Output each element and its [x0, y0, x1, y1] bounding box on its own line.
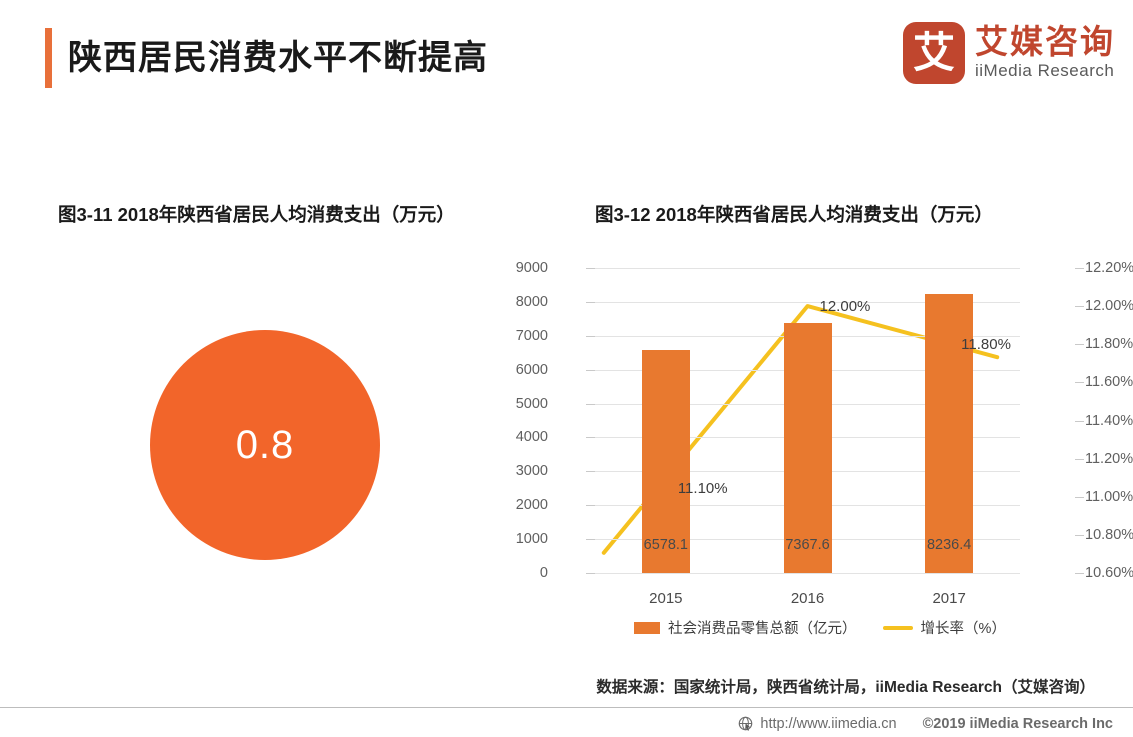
- plot-area: 900080007000600050004000300020001000012.…: [595, 268, 1020, 573]
- y-axis-right-tick: 12.20%: [1085, 260, 1133, 276]
- legend-line-label: 增长率（%）: [921, 617, 1006, 638]
- pie-chart: 0.8: [150, 330, 380, 560]
- y-axis-left-tick: 7000: [516, 328, 548, 344]
- y-axis-left-tick-mark: [586, 505, 595, 506]
- logo-mark-icon: 艾: [903, 22, 965, 84]
- globe-icon: [738, 716, 754, 732]
- y-axis-right-tick-mark: [1075, 306, 1084, 307]
- y-axis-left-tick: 6000: [516, 362, 548, 378]
- logo-name-en: iiMedia Research: [975, 60, 1115, 82]
- logo-name-cn: 艾媒咨询: [975, 24, 1115, 60]
- footer-url-text: http://www.iimedia.cn: [760, 716, 896, 732]
- y-axis-left-tick-mark: [586, 370, 595, 371]
- y-axis-right-tick: 10.60%: [1085, 565, 1133, 581]
- gridline: [595, 268, 1020, 269]
- legend-bar-label: 社会消费品零售总额（亿元）: [668, 617, 857, 638]
- legend-line-swatch-icon: [883, 626, 913, 630]
- title-accent-bar: [45, 28, 52, 88]
- page-footer: http://www.iimedia.cn ©2019 iiMedia Rese…: [0, 710, 1113, 737]
- y-axis-right-tick: 11.40%: [1085, 413, 1133, 429]
- line-data-label: 11.80%: [961, 336, 1011, 353]
- x-axis-tick: 2016: [763, 590, 853, 607]
- y-axis-left-tick-mark: [586, 404, 595, 405]
- y-axis-left-tick: 2000: [516, 497, 548, 513]
- bar: [784, 323, 832, 573]
- y-axis-left-tick: 9000: [516, 260, 548, 276]
- y-axis-right-tick: 11.60%: [1085, 374, 1133, 390]
- y-axis-left-tick: 0: [540, 565, 548, 581]
- y-axis-right-tick: 11.00%: [1085, 489, 1133, 505]
- y-axis-left-tick: 8000: [516, 294, 548, 310]
- legend-bar-swatch-icon: [634, 622, 660, 634]
- data-source-note: 数据来源：国家统计局，陕西省统计局，iiMedia Research（艾媒咨询）: [0, 675, 1095, 697]
- y-axis-right-tick: 11.20%: [1085, 451, 1133, 467]
- y-axis-left-tick-mark: [586, 539, 595, 540]
- y-axis-left-tick-mark: [586, 268, 595, 269]
- y-axis-right-tick-mark: [1075, 421, 1084, 422]
- y-axis-right-tick-mark: [1075, 497, 1084, 498]
- chart-legend: 社会消费品零售总额（亿元） 增长率（%）: [540, 617, 1100, 638]
- line-data-label: 12.00%: [820, 298, 871, 315]
- y-axis-left-tick: 5000: [516, 396, 548, 412]
- footer-divider: [0, 707, 1133, 708]
- y-axis-right-tick-mark: [1075, 535, 1084, 536]
- bar-data-label: 8236.4: [904, 537, 994, 553]
- logo-text: 艾媒咨询 iiMedia Research: [975, 24, 1115, 83]
- y-axis-left-tick: 3000: [516, 463, 548, 479]
- y-axis-left-tick-mark: [586, 471, 595, 472]
- footer-copyright: ©2019 iiMedia Research Inc: [923, 716, 1113, 732]
- y-axis-right-tick-mark: [1075, 459, 1084, 460]
- y-axis-right-tick-mark: [1075, 573, 1084, 574]
- y-axis-right-tick-mark: [1075, 268, 1084, 269]
- footer-url[interactable]: http://www.iimedia.cn: [738, 716, 896, 732]
- left-chart-title: 图3-11 2018年陕西省居民人均消费支出（万元）: [58, 201, 455, 227]
- page-header: 陕西居民消费水平不断提高 艾 艾媒咨询 iiMedia Research: [0, 0, 1133, 120]
- gridline: [595, 573, 1020, 574]
- legend-item-bar[interactable]: 社会消费品零售总额（亿元）: [634, 617, 857, 638]
- y-axis-left-tick-mark: [586, 573, 595, 574]
- bar-data-label: 7367.6: [763, 537, 853, 553]
- y-axis-right-tick-mark: [1075, 382, 1084, 383]
- x-axis-tick: 2015: [621, 590, 711, 607]
- y-axis-left-tick: 4000: [516, 429, 548, 445]
- y-axis-left-tick-mark: [586, 336, 595, 337]
- pie-data-label: 0.8: [150, 330, 380, 560]
- x-axis-tick: 2017: [904, 590, 994, 607]
- line-data-label: 11.10%: [678, 480, 728, 497]
- y-axis-right-tick: 10.80%: [1085, 527, 1133, 543]
- y-axis-left-tick-mark: [586, 302, 595, 303]
- legend-item-line[interactable]: 增长率（%）: [883, 617, 1006, 638]
- brand-logo: 艾 艾媒咨询 iiMedia Research: [903, 22, 1115, 84]
- combo-chart: 900080007000600050004000300020001000012.…: [540, 255, 1100, 655]
- y-axis-left-tick: 1000: [516, 531, 548, 547]
- y-axis-right-tick: 11.80%: [1085, 336, 1133, 352]
- y-axis-right-tick-mark: [1075, 344, 1084, 345]
- page-title: 陕西居民消费水平不断提高: [68, 28, 488, 88]
- bar-data-label: 6578.1: [621, 537, 711, 553]
- y-axis-right-tick: 12.00%: [1085, 298, 1133, 314]
- right-chart-title: 图3-12 2018年陕西省居民人均消费支出（万元）: [595, 201, 993, 227]
- y-axis-left-tick-mark: [586, 437, 595, 438]
